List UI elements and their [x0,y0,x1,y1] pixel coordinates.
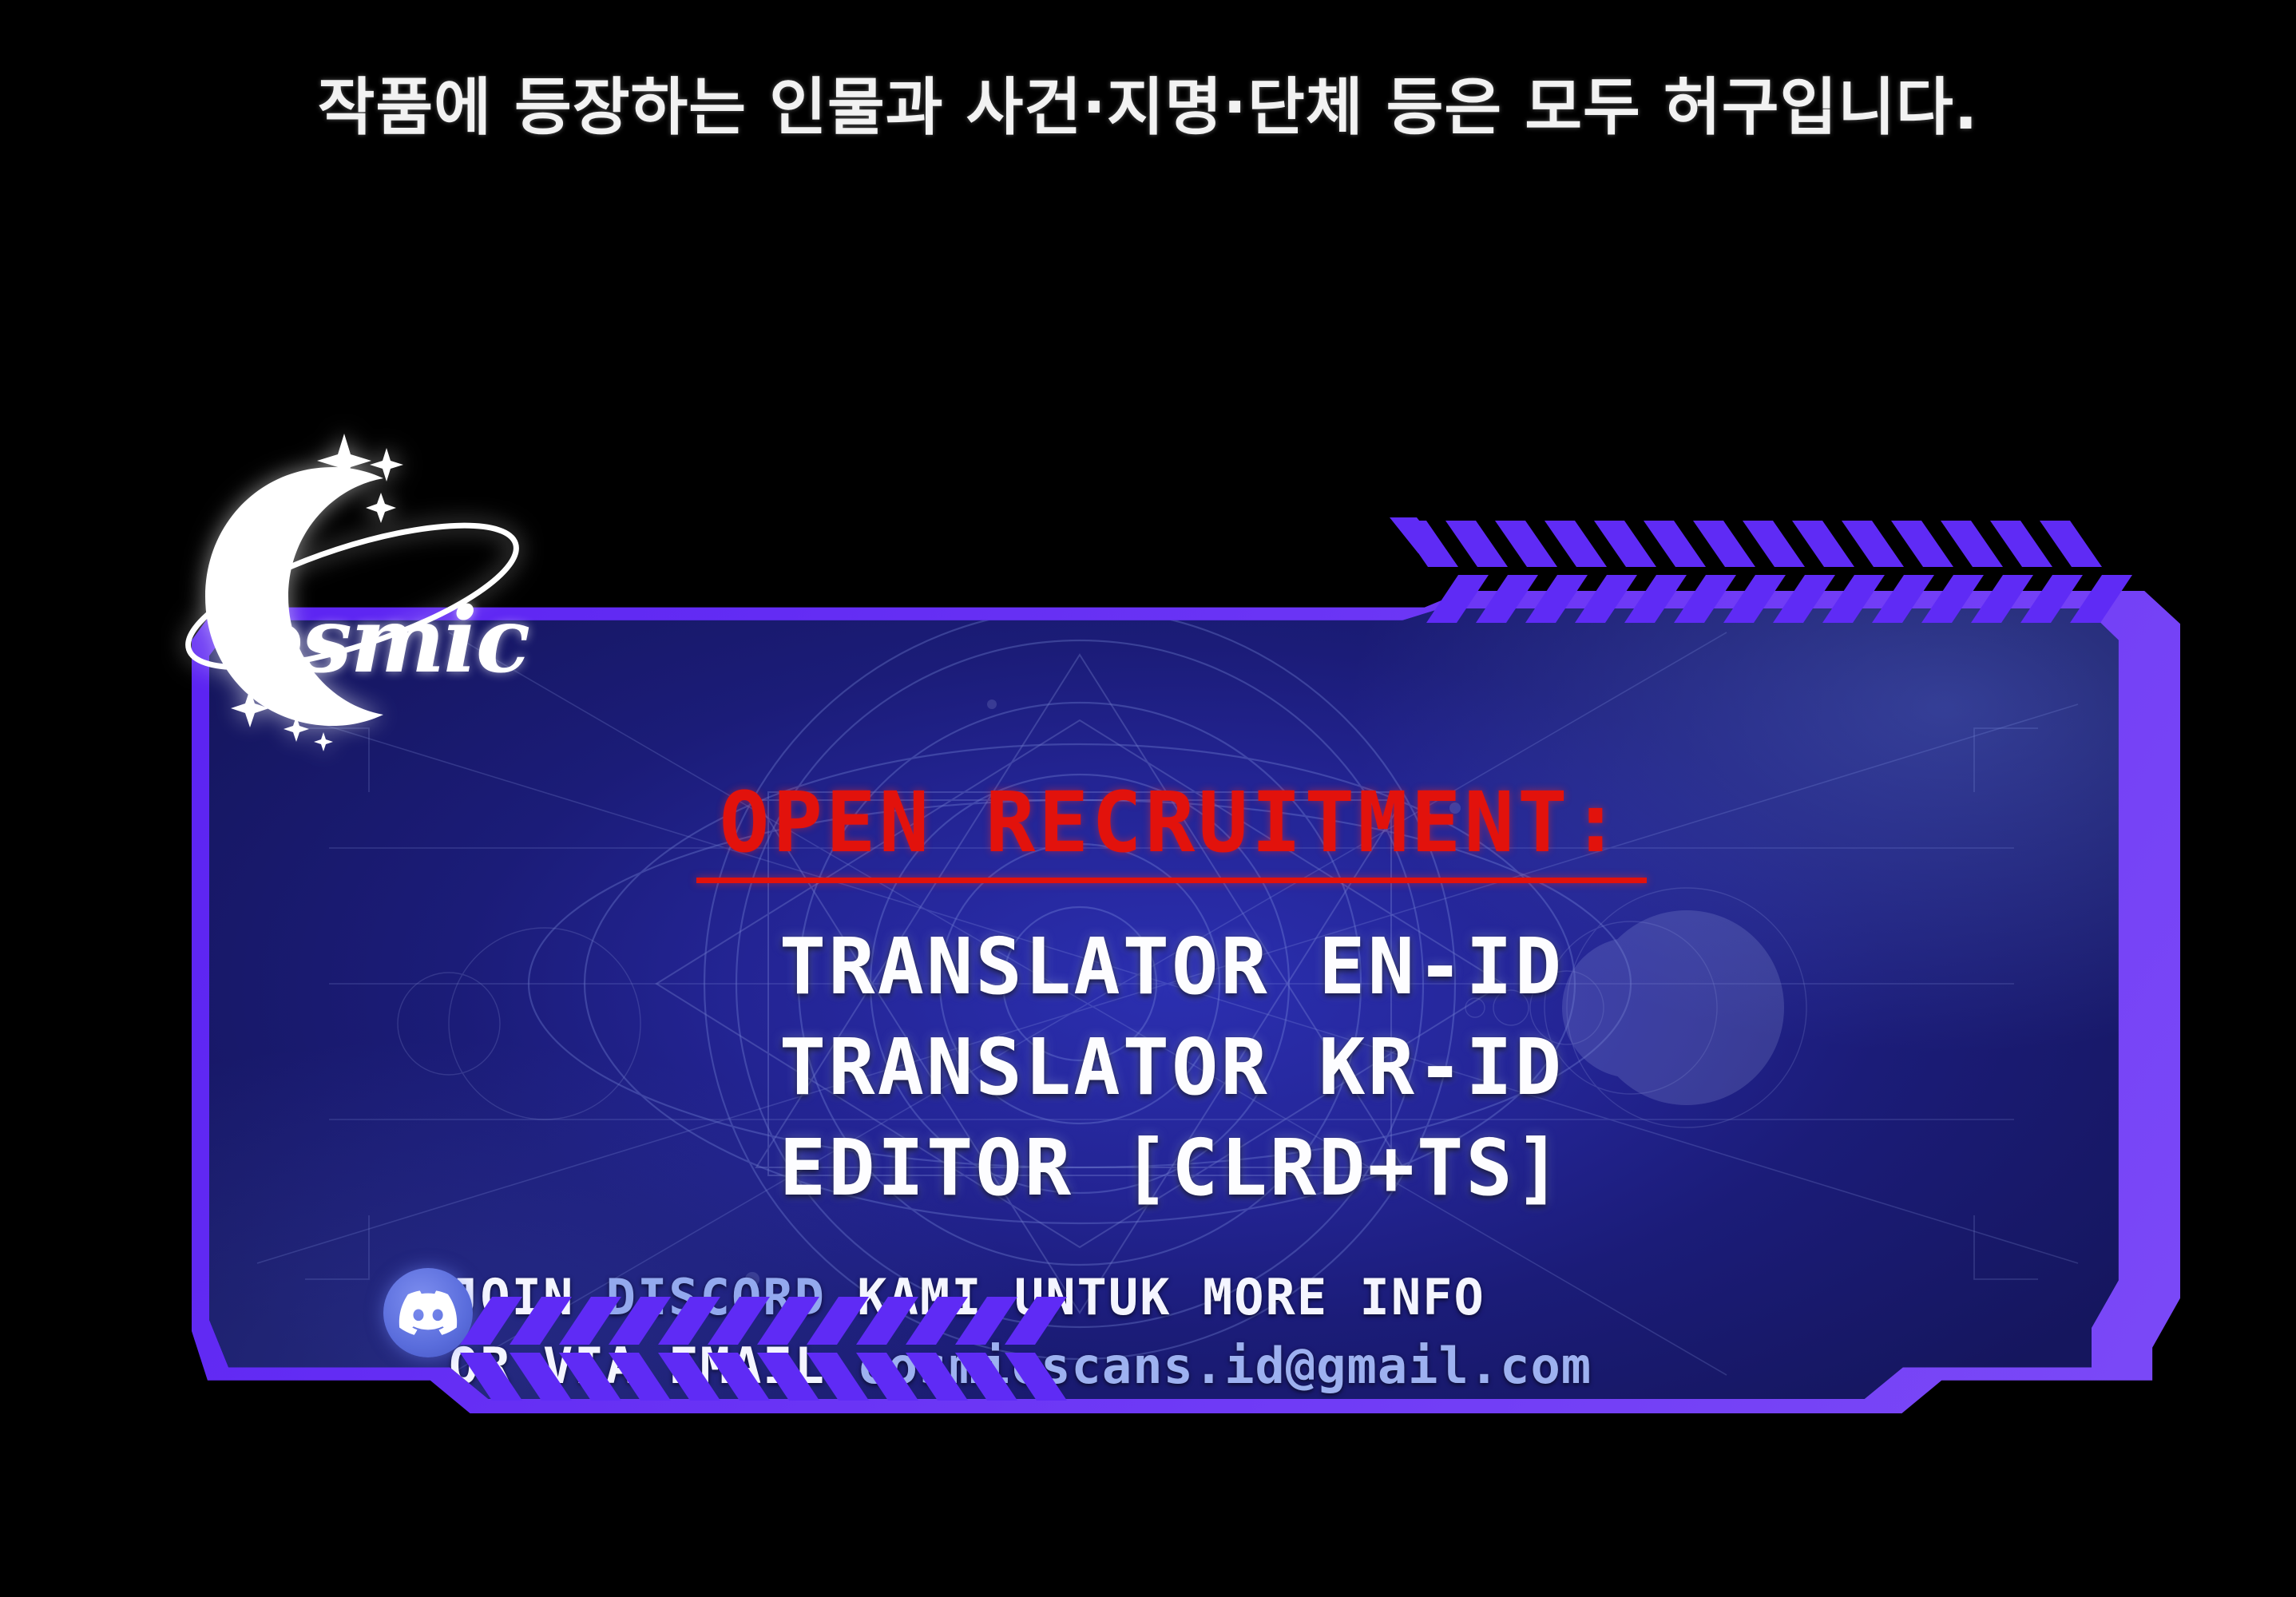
discord-logo-icon[interactable] [383,1268,473,1357]
banner-copy: OPEN RECRUITMENT: TRANSLATOR EN-ID TRANS… [321,780,2022,1219]
headline-open-recruitment: OPEN RECRUITMENT: [321,780,2022,865]
role-item-1: TRANSLATOR KR-ID [321,1017,2022,1118]
contact-join-suffix: KAMI UNTUK MORE INFO [826,1268,1485,1326]
headline-underline [696,878,1647,883]
role-item-2: EDITOR [CLRD+TS] [321,1118,2022,1219]
cosmic-logo-art [148,419,563,755]
contact-discord-word[interactable]: DISCORD [606,1268,826,1326]
recruitment-banner: OPEN RECRUITMENT: TRANSLATOR EN-ID TRANS… [192,495,2204,1477]
contact-block: JOIN DISCORD KAMI UNTUK MORE INFO OR VIA… [449,1263,2046,1399]
disclaimer-text: 작품에 등장하는 인물과 사건·지명·단체 등은 모두 허구입니다. [0,57,2296,147]
contact-line-email: OR VIA EMAIL cosmicscans.id@gmail.com [449,1332,2046,1399]
contact-email-label: OR VIA EMAIL [449,1337,857,1395]
cosmic-logo: osmic [148,419,563,755]
role-item-0: TRANSLATOR EN-ID [321,917,2022,1017]
contact-email-address[interactable]: cosmicscans.id@gmail.com [857,1337,1592,1395]
role-list: TRANSLATOR EN-ID TRANSLATOR KR-ID EDITOR… [321,917,2022,1219]
contact-line-discord: JOIN DISCORD KAMI UNTUK MORE INFO [449,1263,2046,1332]
